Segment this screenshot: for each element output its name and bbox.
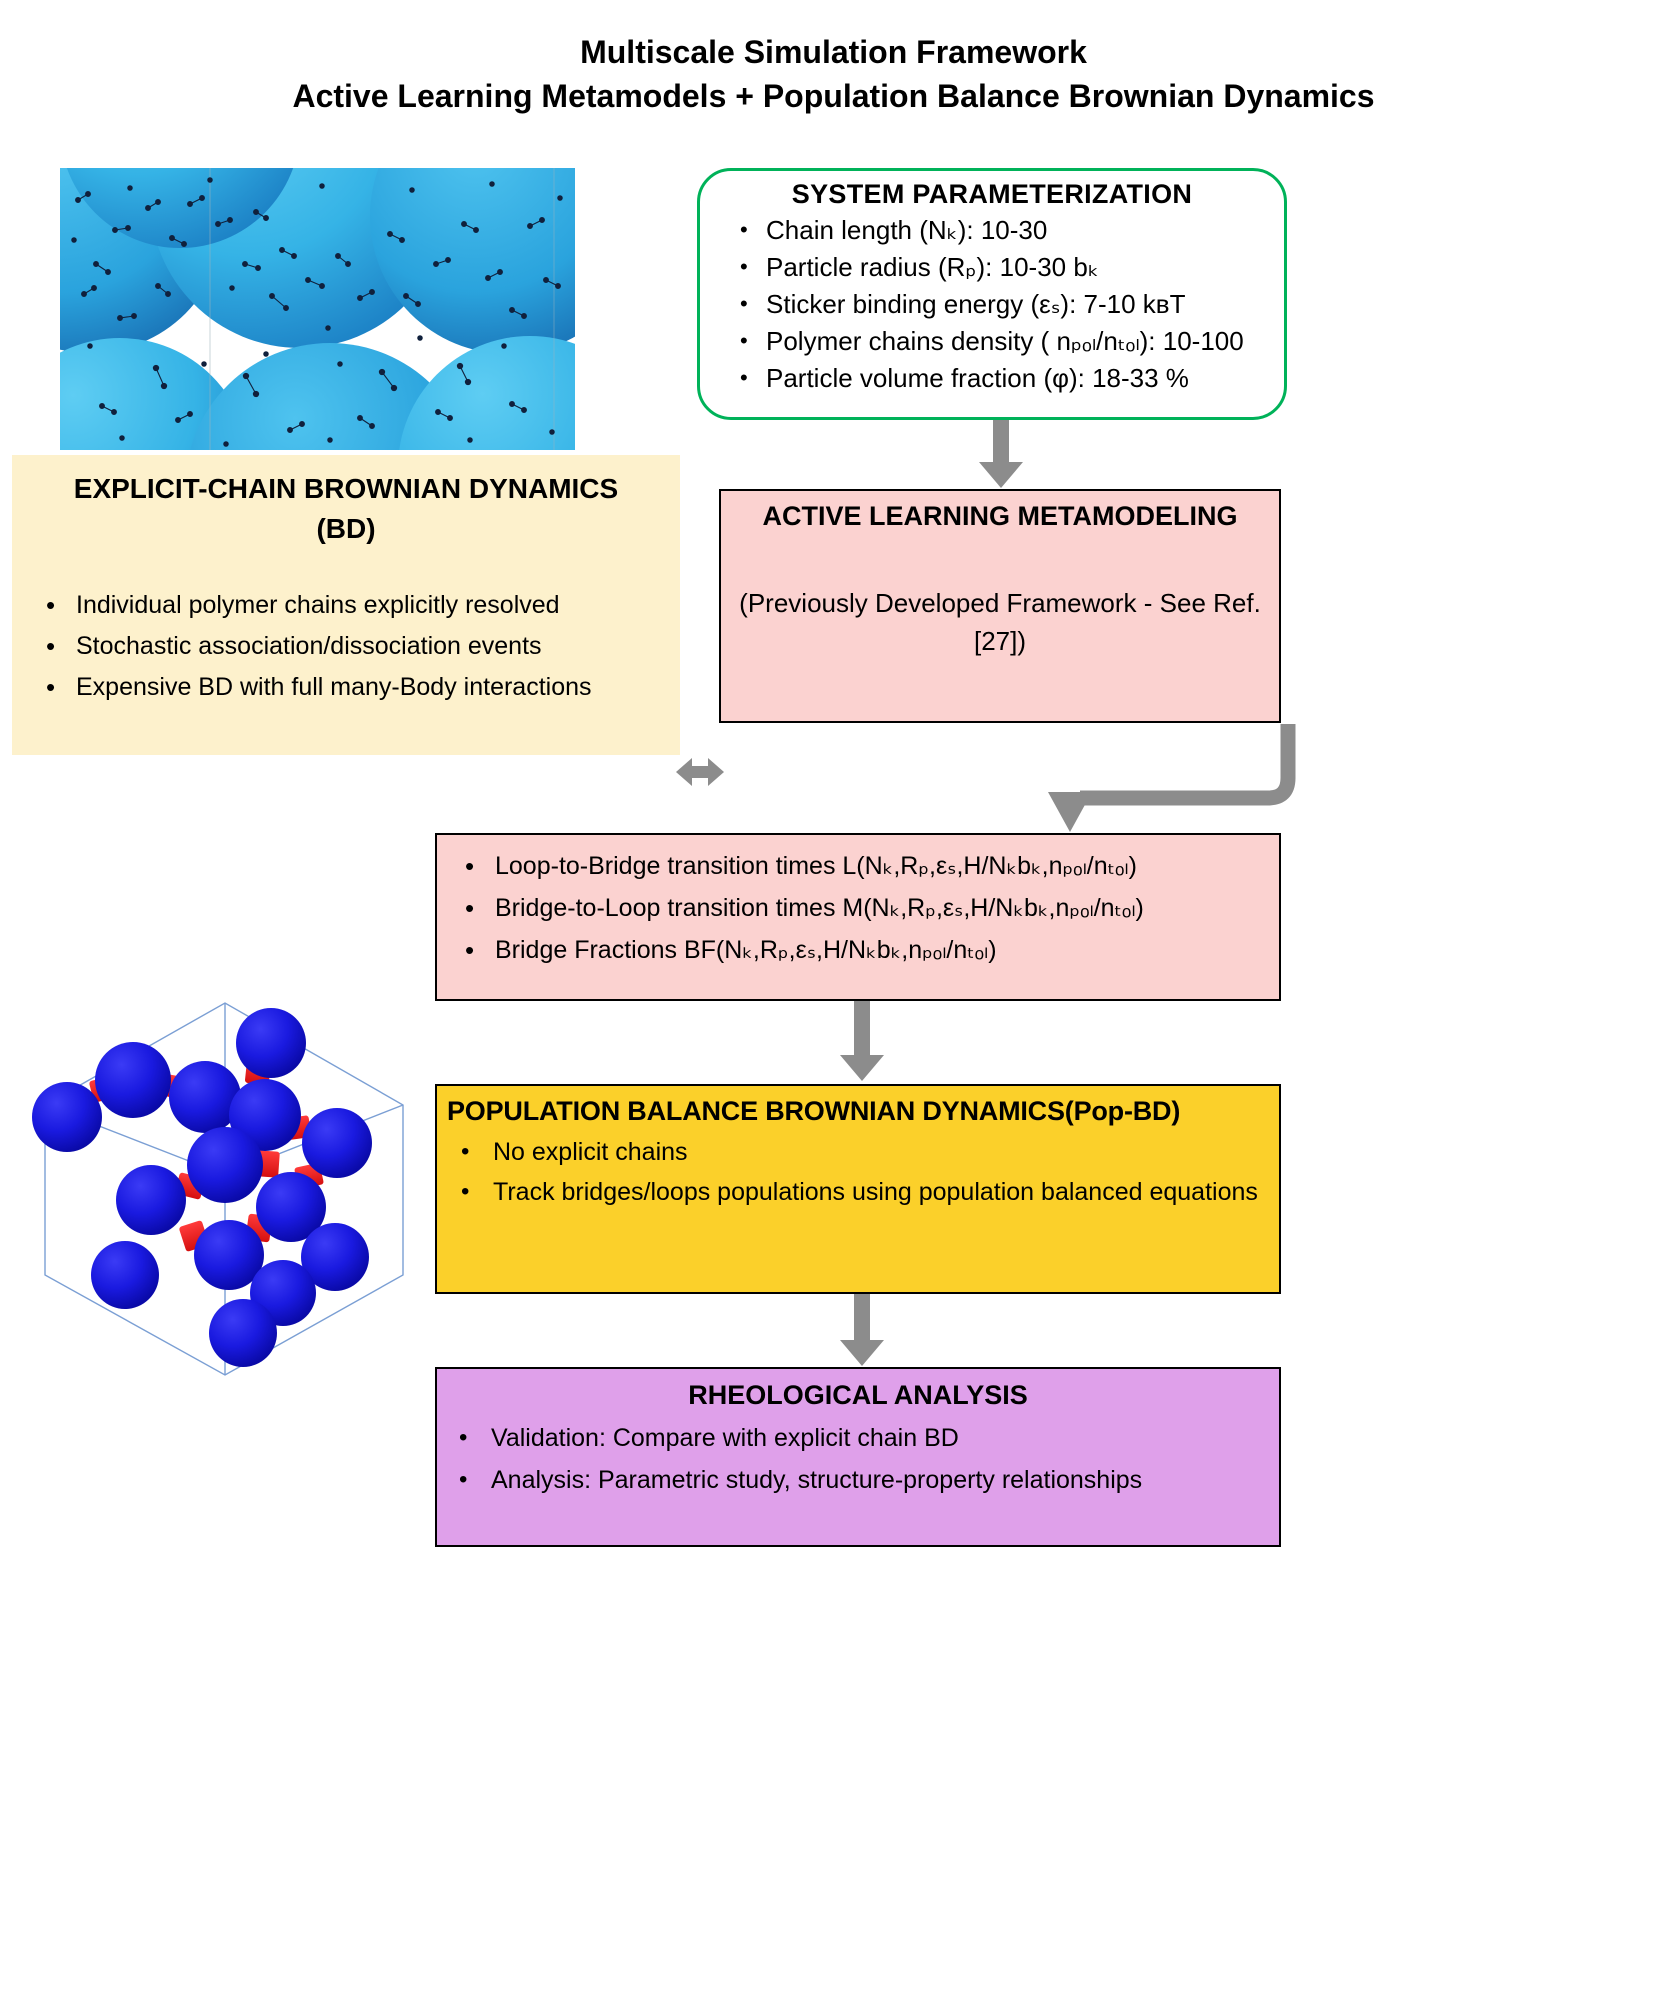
active-learning-metamodeling-box: ACTIVE LEARNING METAMODELING (Previously… [719, 489, 1281, 723]
list-item: Chain length (Nₖ): 10-30 [740, 212, 1270, 249]
bidirectional-arrow-bd-metamodeling [676, 748, 724, 796]
explicit-chain-bd-list: Individual polymer chains explicitly res… [28, 585, 664, 708]
explicit-chain-bd-heading-line1: EXPLICIT-CHAIN BROWNIAN DYNAMICS [28, 469, 664, 509]
metamodel-outputs-box: Loop-to-Bridge transition times L(Nₖ,Rₚ,… [435, 833, 1281, 1001]
list-item: Validation: Compare with explicit chain … [459, 1417, 1269, 1459]
popbd-snapshot-svg [25, 975, 425, 1395]
rheological-analysis-box: RHEOLOGICAL ANALYSIS Validation: Compare… [435, 1367, 1281, 1547]
system-parameterization-box: SYSTEM PARAMETERIZATION Chain length (Nₖ… [697, 168, 1287, 420]
population-balance-box: POPULATION BALANCE BROWNIAN DYNAMICS(Pop… [435, 1084, 1281, 1294]
curved-arrow-metamodeling-to-outputs [1020, 720, 1310, 838]
page-title: Multiscale Simulation Framework Active L… [0, 30, 1667, 118]
title-line-2: Active Learning Metamodels + Population … [0, 74, 1667, 118]
active-learning-metamodeling-body: (Previously Developed Framework - See Re… [735, 584, 1265, 660]
list-item: No explicit chains [461, 1132, 1269, 1172]
list-item: Track bridges/loops populations using po… [461, 1172, 1269, 1212]
system-parameterization-heading: SYSTEM PARAMETERIZATION [714, 179, 1270, 210]
active-learning-metamodeling-heading: ACTIVE LEARNING METAMODELING [735, 501, 1265, 532]
list-item: Bridge Fractions BF(Nₖ,Rₚ,εₛ,H/Nₖbₖ,nₚₒₗ… [465, 929, 1269, 971]
arrow-population-balance-to-rheological-analysis [836, 1294, 888, 1370]
list-item: Stochastic association/dissociation even… [46, 626, 664, 667]
bd-snapshot-svg [60, 168, 575, 450]
list-item: Expensive BD with full many-Body interac… [46, 667, 664, 708]
explicit-chain-bd-box: EXPLICIT-CHAIN BROWNIAN DYNAMICS (BD) In… [12, 455, 680, 755]
metamodel-outputs-list: Loop-to-Bridge transition times L(Nₖ,Rₚ,… [447, 845, 1269, 971]
rheological-analysis-heading: RHEOLOGICAL ANALYSIS [447, 1377, 1269, 1413]
list-item: Particle radius (Rₚ): 10-30 bₖ [740, 249, 1270, 286]
system-parameterization-list: Chain length (Nₖ): 10-30 Particle radius… [714, 212, 1270, 397]
rheological-analysis-list: Validation: Compare with explicit chain … [447, 1417, 1269, 1501]
list-item: Sticker binding energy (εₛ): 7-10 kʙT [740, 286, 1270, 323]
population-balance-heading: POPULATION BALANCE BROWNIAN DYNAMICS(Pop… [447, 1094, 1269, 1128]
arrow-parameterization-to-metamodeling [975, 420, 1027, 492]
list-item: Polymer chains density ( nₚₒₗ/nₜₒₗ): 10-… [740, 323, 1270, 360]
list-item: Analysis: Parametric study, structure-pr… [459, 1459, 1269, 1501]
population-balance-list: No explicit chains Track bridges/loops p… [447, 1132, 1269, 1212]
list-item: Individual polymer chains explicitly res… [46, 585, 664, 626]
list-item: Loop-to-Bridge transition times L(Nₖ,Rₚ,… [465, 845, 1269, 887]
explicit-chain-bd-snapshot-image [60, 168, 575, 450]
list-item: Bridge-to-Loop transition times M(Nₖ,Rₚ,… [465, 887, 1269, 929]
list-item: Particle volume fraction (φ): 18-33 % [740, 360, 1270, 397]
population-balance-bd-snapshot-image [25, 975, 425, 1395]
arrow-outputs-to-population-balance [836, 1001, 888, 1085]
explicit-chain-bd-heading-line2: (BD) [28, 509, 664, 549]
title-line-1: Multiscale Simulation Framework [0, 30, 1667, 74]
